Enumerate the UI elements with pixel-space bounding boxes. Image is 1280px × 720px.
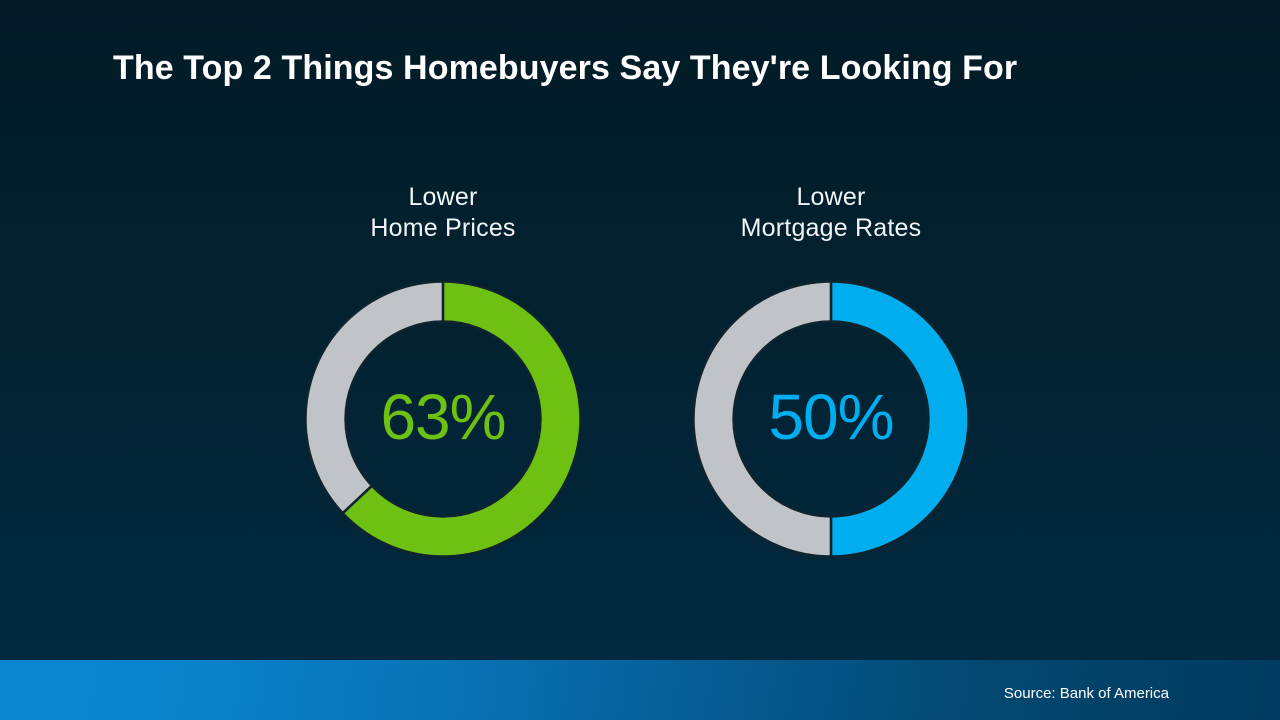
charts-container: Lower Home Prices 63%	[0, 0, 1280, 660]
donut-inner-outline-home-prices	[346, 322, 541, 517]
slide-canvas: The Top 2 Things Homebuyers Say They're …	[0, 0, 1280, 720]
footer-bar: Source: Bank of America	[0, 660, 1280, 720]
donut-inner-outline-mortgage-rates	[734, 322, 929, 517]
donut-label-line2: Home Prices	[273, 213, 613, 244]
donut-label-line1: Lower	[796, 183, 865, 211]
donut-label-line2: Mortgage Rates	[661, 213, 1001, 244]
donut-chart-lower-mortgage-rates: Lower Mortgage Rates 50%	[661, 182, 1001, 557]
donut-label-line1: Lower	[408, 183, 477, 211]
donut-graphic-mortgage-rates: 50%	[693, 281, 969, 557]
donut-chart-lower-home-prices: Lower Home Prices 63%	[273, 182, 613, 557]
donut-label-lower-mortgage-rates: Lower Mortgage Rates	[661, 182, 1001, 244]
donut-graphic-home-prices: 63%	[305, 281, 581, 557]
source-attribution: Source: Bank of America	[1004, 685, 1169, 702]
donut-label-lower-home-prices: Lower Home Prices	[273, 182, 613, 244]
